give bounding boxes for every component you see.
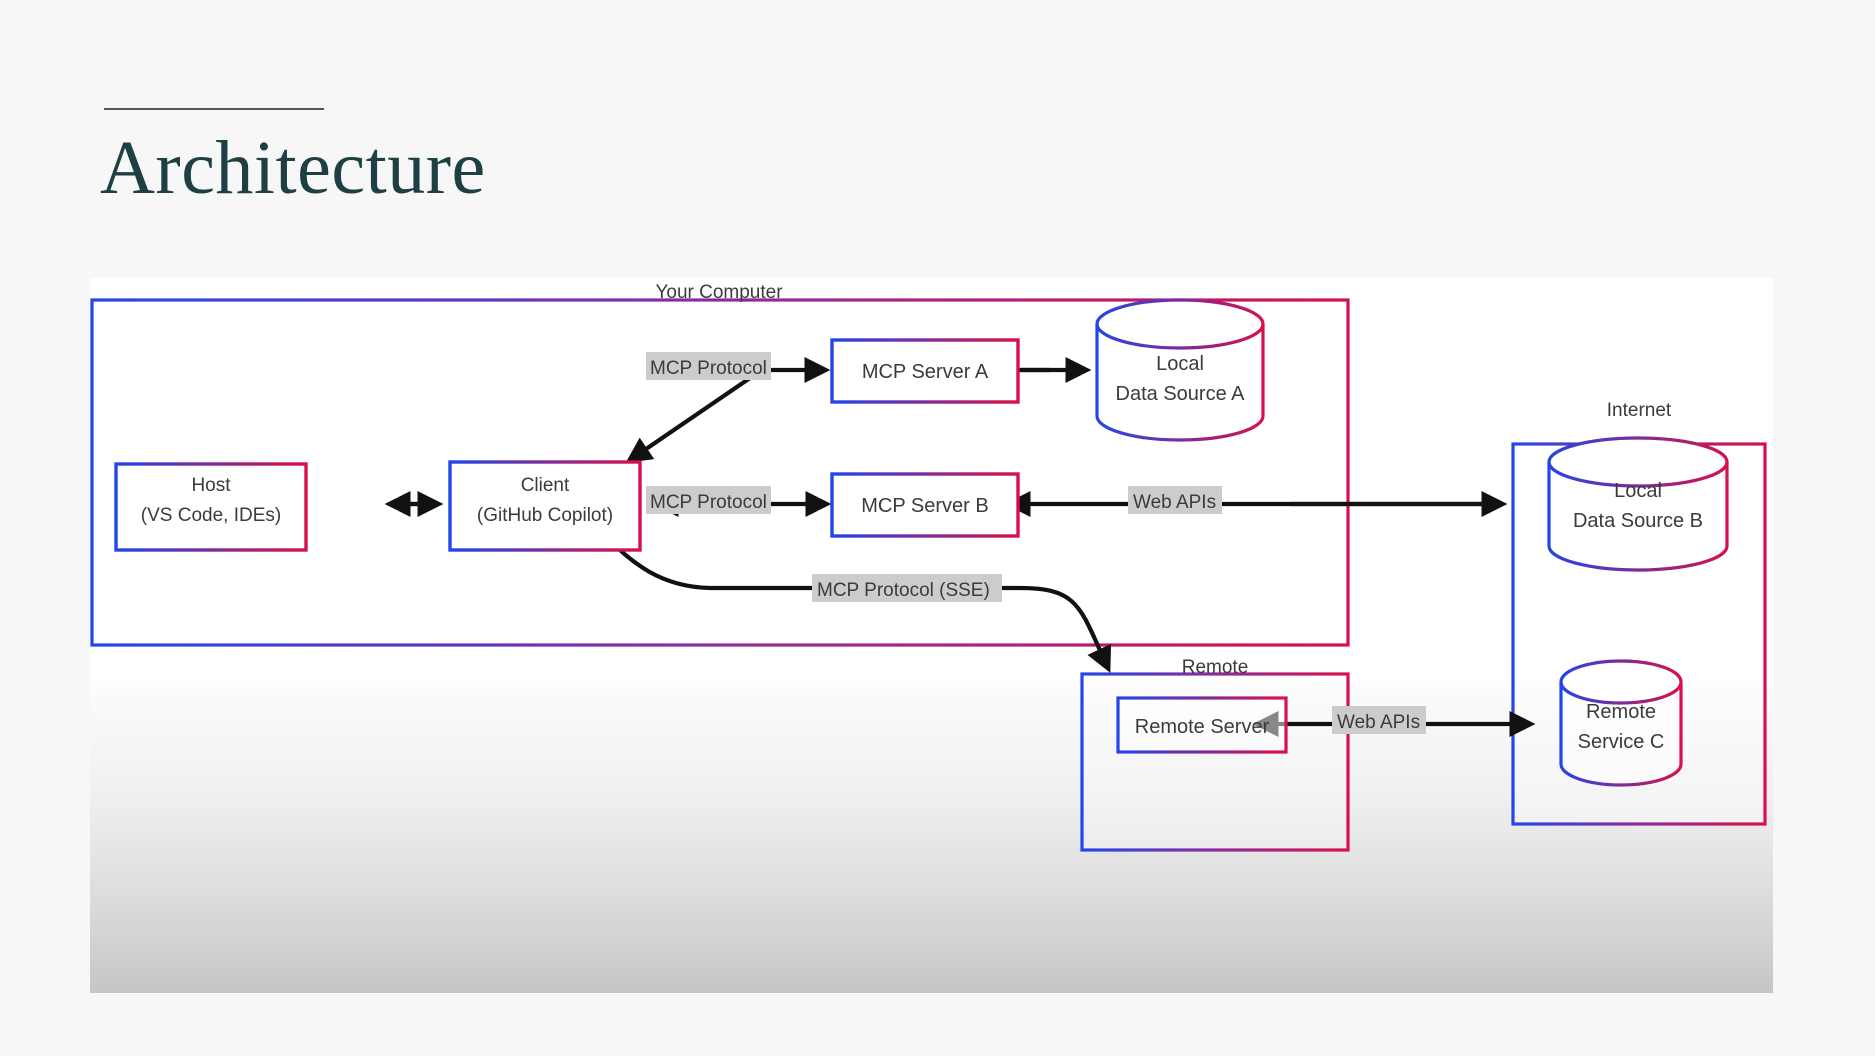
data-source-b-line2: Data Source B [1573, 510, 1703, 532]
edge-label-mcp-protocol-sse: MCP Protocol (SSE) [812, 574, 1002, 602]
edge-label-web-apis-c: Web APIs [1332, 706, 1426, 734]
web-apis-c-text: Web APIs [1337, 712, 1420, 733]
data-source-a-line1: Local [1156, 353, 1204, 375]
node-remote-server[interactable]: Remote Server [1118, 698, 1286, 752]
architecture-diagram-svg: Your Computer Internet Remote [90, 278, 1773, 993]
node-remote-service-c[interactable]: Remote Service C [1561, 661, 1681, 785]
node-client[interactable]: Client (GitHub Copilot) [450, 462, 640, 550]
cylinder-top [1561, 661, 1681, 703]
page-title: Architecture [100, 130, 486, 206]
client-title: Client [521, 475, 570, 496]
data-source-b-line1: Local [1614, 480, 1662, 502]
edge-label-web-apis-b: Web APIs [1128, 486, 1222, 514]
service-c-line1: Remote [1586, 701, 1656, 723]
mcp-protocol-a-text: MCP Protocol [650, 358, 767, 379]
slide-canvas: Architecture [0, 0, 1875, 1056]
mcp-server-b-label: MCP Server B [861, 495, 988, 517]
web-apis-b-text: Web APIs [1133, 492, 1216, 513]
edge-label-mcp-protocol-a: MCP Protocol [646, 352, 771, 380]
architecture-diagram-image: Your Computer Internet Remote [90, 278, 1773, 993]
host-subtitle: (VS Code, IDEs) [141, 505, 281, 526]
data-source-a-line2: Data Source A [1116, 383, 1246, 405]
title-divider-rule [104, 108, 324, 110]
mcp-protocol-sse-text: MCP Protocol (SSE) [817, 580, 990, 601]
service-c-line2: Service C [1578, 731, 1665, 753]
node-mcp-server-b[interactable]: MCP Server B [832, 474, 1018, 536]
host-title: Host [191, 475, 231, 496]
remote-label: Remote [1182, 657, 1249, 678]
cylinder-top [1097, 300, 1263, 348]
remote-server-label: Remote Server [1135, 716, 1270, 738]
client-subtitle: (GitHub Copilot) [477, 505, 613, 526]
node-local-data-source-b[interactable]: Local Data Source B [1549, 438, 1727, 570]
node-host[interactable]: Host (VS Code, IDEs) [116, 464, 306, 550]
node-local-data-source-a[interactable]: Local Data Source A [1097, 300, 1263, 440]
edge-label-mcp-protocol-b: MCP Protocol [646, 486, 771, 514]
your-computer-label: Your Computer [655, 282, 783, 303]
mcp-protocol-b-text: MCP Protocol [650, 492, 767, 513]
mcp-server-a-label: MCP Server A [862, 361, 989, 383]
internet-label: Internet [1607, 400, 1672, 421]
cylinder-top [1549, 438, 1727, 486]
node-mcp-server-a[interactable]: MCP Server A [832, 340, 1018, 402]
